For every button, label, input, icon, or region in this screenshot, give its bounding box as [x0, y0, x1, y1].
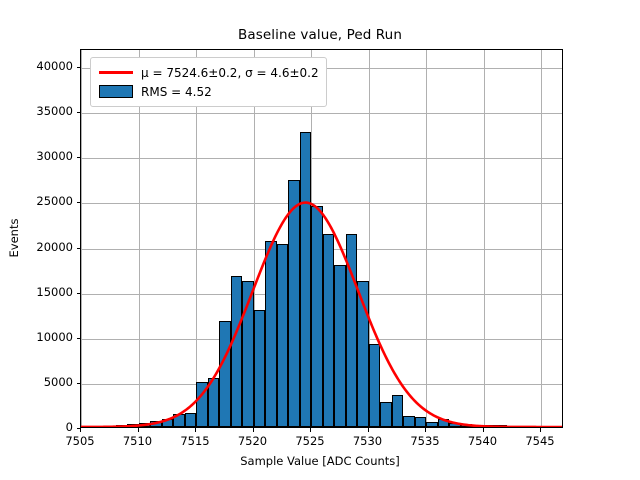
histogram-bar	[219, 321, 231, 427]
histogram-bar	[415, 417, 427, 427]
x-tick-mark	[540, 428, 541, 432]
histogram-bar	[116, 425, 128, 427]
histogram-bar	[346, 234, 358, 427]
histogram-bar	[231, 276, 243, 427]
histogram-bar	[254, 310, 266, 427]
legend-line-marker	[99, 71, 133, 74]
gridline-horizontal	[81, 113, 562, 114]
chart-title: Baseline value, Ped Run	[0, 27, 640, 43]
histogram-bar	[357, 281, 369, 427]
x-tick-label: 7525	[280, 434, 340, 448]
histogram-bar	[173, 414, 185, 427]
y-tick-mark	[77, 112, 81, 113]
histogram-bar	[484, 425, 496, 427]
gridline-horizontal	[81, 203, 562, 204]
legend-entry-fit: μ = 7524.6±0.2, σ = 4.6±0.2	[97, 63, 319, 82]
x-tick-mark	[80, 428, 81, 432]
x-tick-label: 7540	[453, 434, 513, 448]
histogram-bar	[380, 402, 392, 427]
y-tick-mark	[77, 428, 81, 429]
gridline-vertical	[426, 50, 427, 427]
histogram-bar	[277, 244, 289, 427]
legend-label-histogram: RMS = 4.52	[141, 85, 212, 99]
chart-legend: μ = 7524.6±0.2, σ = 4.6±0.2 RMS = 4.52	[90, 57, 327, 107]
histogram-bar	[150, 421, 162, 427]
gridline-vertical	[81, 50, 82, 427]
y-tick-mark	[77, 248, 81, 249]
y-tick-mark	[77, 202, 81, 203]
histogram-bar	[426, 422, 438, 427]
histogram-bar	[300, 132, 312, 427]
x-tick-mark	[310, 428, 311, 432]
histogram-bar	[438, 419, 450, 427]
histogram-bar	[369, 344, 381, 427]
gridline-horizontal	[81, 158, 562, 159]
histogram-bar	[392, 395, 404, 427]
y-tick-label: 10000	[0, 330, 73, 344]
y-tick-label: 40000	[0, 59, 73, 73]
histogram-bar	[196, 382, 208, 427]
x-tick-mark	[368, 428, 369, 432]
x-tick-label: 7510	[108, 434, 168, 448]
gridline-vertical	[541, 50, 542, 427]
y-tick-mark	[77, 338, 81, 339]
y-tick-mark	[77, 383, 81, 384]
histogram-bar	[461, 424, 473, 427]
x-tick-mark	[138, 428, 139, 432]
histogram-bar	[265, 241, 277, 427]
y-tick-mark	[77, 67, 81, 68]
histogram-bar	[334, 265, 346, 427]
y-tick-mark	[77, 157, 81, 158]
matplotlib-figure: Baseline value, Ped Run 7505751075157520…	[0, 0, 640, 480]
x-tick-mark	[425, 428, 426, 432]
histogram-bar	[127, 424, 139, 427]
x-tick-label: 7515	[165, 434, 225, 448]
x-tick-label: 7520	[223, 434, 283, 448]
histogram-bar	[208, 378, 220, 427]
histogram-bar	[242, 281, 254, 427]
histogram-bar	[162, 419, 174, 427]
x-tick-mark	[253, 428, 254, 432]
histogram-bar	[185, 413, 197, 427]
x-tick-label: 7545	[510, 434, 570, 448]
legend-entry-histogram: RMS = 4.52	[97, 82, 319, 101]
histogram-bar	[288, 180, 300, 427]
legend-patch-marker	[99, 85, 133, 98]
y-axis-label: Events	[7, 148, 21, 328]
histogram-bar	[472, 425, 484, 427]
x-tick-label: 7530	[338, 434, 398, 448]
histogram-bar	[311, 206, 323, 427]
legend-label-fit: μ = 7524.6±0.2, σ = 4.6±0.2	[141, 66, 319, 80]
histogram-bar	[139, 423, 151, 428]
x-tick-label: 7535	[395, 434, 455, 448]
y-tick-label: 0	[0, 420, 73, 434]
x-axis-label: Sample Value [ADC Counts]	[0, 454, 640, 468]
gridline-vertical	[484, 50, 485, 427]
histogram-bar	[495, 425, 507, 427]
x-tick-label: 7505	[50, 434, 110, 448]
y-tick-mark	[77, 293, 81, 294]
y-tick-label: 35000	[0, 104, 73, 118]
y-tick-label: 5000	[0, 375, 73, 389]
histogram-bar	[403, 416, 415, 427]
x-tick-mark	[195, 428, 196, 432]
x-tick-mark	[483, 428, 484, 432]
histogram-bar	[449, 423, 461, 428]
histogram-bar	[323, 234, 335, 427]
